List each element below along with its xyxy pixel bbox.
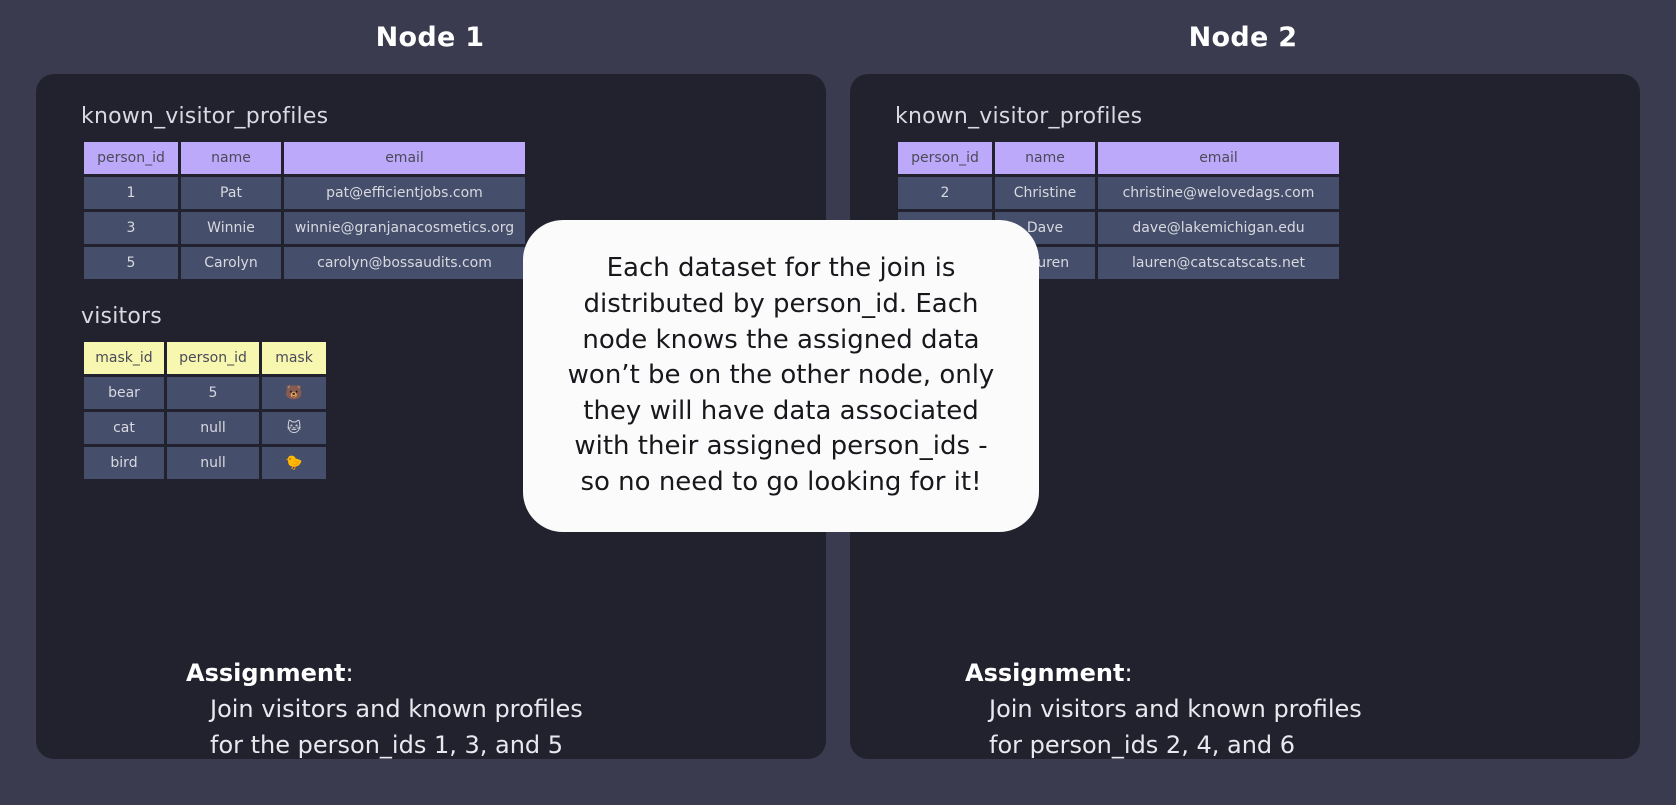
node-1-assignment: Assignment: Join visitors and known prof… (186, 659, 583, 763)
column-header-person-id: person_id (898, 142, 992, 174)
table-header-row: person_id name email (898, 142, 1339, 174)
cell-email: christine@welovedags.com (1098, 177, 1339, 209)
column-header-mask-id: mask_id (84, 342, 164, 374)
cell-person-id: 5 (167, 377, 259, 409)
explanation-callout-text: Each dataset for the join is distributed… (563, 251, 999, 500)
cell-person-id: null (167, 447, 259, 479)
assignment-label-text: Assignment (186, 659, 345, 687)
assignment-label: Assignment: (965, 659, 1362, 687)
table-row: 5 Carolyn carolyn@bossaudits.com (84, 247, 525, 279)
cell-person-id: 2 (898, 177, 992, 209)
cell-mask-id: bird (84, 447, 164, 479)
cell-email: dave@lakemichigan.edu (1098, 212, 1339, 244)
cell-email: lauren@catscatscats.net (1098, 247, 1339, 279)
column-header-email: email (284, 142, 525, 174)
cat-icon: 🐱 (262, 412, 326, 444)
table-row: 1 Pat pat@efficientjobs.com (84, 177, 525, 209)
assignment-line-1: Join visitors and known profiles (989, 692, 1362, 728)
cell-name: Winnie (181, 212, 281, 244)
column-header-name: name (181, 142, 281, 174)
bird-icon: 🐤 (262, 447, 326, 479)
node-2-profiles-table-title: known_visitor_profiles (895, 104, 1620, 129)
node-1-profiles-table: person_id name email 1 Pat pat@efficient… (81, 139, 528, 282)
cell-name: Pat (181, 177, 281, 209)
column-header-person-id: person_id (84, 142, 178, 174)
table-header-row: person_id name email (84, 142, 525, 174)
cell-email: carolyn@bossaudits.com (284, 247, 525, 279)
node-2-title: Node 2 (1093, 22, 1393, 53)
cell-email: winnie@granjanacosmetics.org (284, 212, 525, 244)
assignment-label-colon: : (345, 659, 353, 687)
cell-person-id: 5 (84, 247, 178, 279)
column-header-person-id: person_id (167, 342, 259, 374)
assignment-lines: Join visitors and known profiles for the… (210, 692, 583, 763)
assignment-label: Assignment: (186, 659, 583, 687)
column-header-mask: mask (262, 342, 326, 374)
node-titles-row: Node 1 Node 2 (0, 0, 1676, 72)
node-2-assignment: Assignment: Join visitors and known prof… (965, 659, 1362, 763)
column-header-name: name (995, 142, 1095, 174)
node-1-title: Node 1 (280, 22, 580, 53)
cell-name: Carolyn (181, 247, 281, 279)
node-1-profiles-table-title: known_visitor_profiles (81, 104, 806, 129)
cell-person-id: 1 (84, 177, 178, 209)
table-header-row: mask_id person_id mask (84, 342, 326, 374)
assignment-line-2: for person_ids 2, 4, and 6 (989, 728, 1362, 764)
assignment-lines: Join visitors and known profiles for per… (989, 692, 1362, 763)
table-row: bird null 🐤 (84, 447, 326, 479)
table-row: 2 Christine christine@welovedags.com (898, 177, 1339, 209)
node-1-visitors-table: mask_id person_id mask bear 5 🐻 cat null… (81, 339, 329, 482)
assignment-line-2: for the person_ids 1, 3, and 5 (210, 728, 583, 764)
cell-person-id: null (167, 412, 259, 444)
cell-person-id: 3 (84, 212, 178, 244)
cell-mask-id: bear (84, 377, 164, 409)
assignment-label-text: Assignment (965, 659, 1124, 687)
assignment-label-colon: : (1124, 659, 1132, 687)
table-row: bear 5 🐻 (84, 377, 326, 409)
bear-icon: 🐻 (262, 377, 326, 409)
table-row: 3 Winnie winnie@granjanacosmetics.org (84, 212, 525, 244)
assignment-line-1: Join visitors and known profiles (210, 692, 583, 728)
cell-email: pat@efficientjobs.com (284, 177, 525, 209)
column-header-email: email (1098, 142, 1339, 174)
explanation-callout: Each dataset for the join is distributed… (523, 220, 1039, 532)
cell-mask-id: cat (84, 412, 164, 444)
cell-name: Christine (995, 177, 1095, 209)
table-row: cat null 🐱 (84, 412, 326, 444)
